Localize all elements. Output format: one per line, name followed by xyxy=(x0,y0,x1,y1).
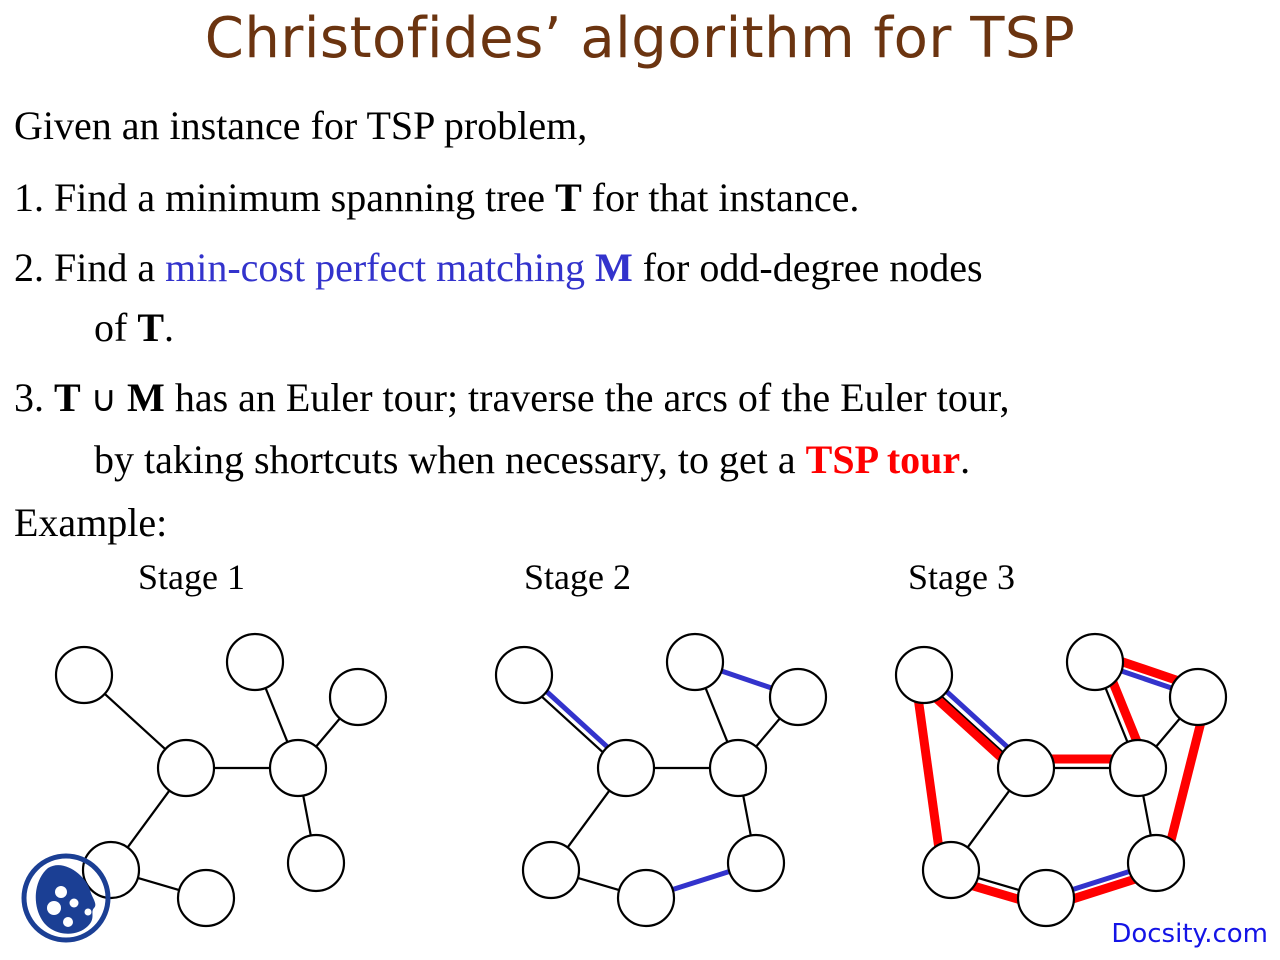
graph-node xyxy=(1170,669,1226,725)
graph-node xyxy=(270,740,326,796)
symbol-T: T xyxy=(555,175,582,220)
step-3: 3. T ∪ M has an Euler tour; traverse the… xyxy=(14,368,1272,490)
graph-node xyxy=(1018,870,1074,926)
step-2-continuation: of T. xyxy=(14,298,1272,358)
tour-edge xyxy=(1121,661,1179,681)
graph-node xyxy=(667,634,723,690)
step-3-cont-b: . xyxy=(960,437,970,482)
union-operator-icon: ∪ xyxy=(91,379,117,420)
graph-node xyxy=(923,842,979,898)
graph-node xyxy=(710,740,766,796)
graph-node xyxy=(728,835,784,891)
step-2-text-a: Find a xyxy=(54,245,165,290)
graph-2-canvas xyxy=(450,620,870,950)
tree-edge xyxy=(128,791,170,848)
graph-node xyxy=(1110,740,1166,796)
slide-root: Christofides’ algorithm for TSP Given an… xyxy=(0,0,1280,960)
tree-edge xyxy=(942,697,1003,752)
graph-node xyxy=(227,634,283,690)
graph-node xyxy=(56,647,112,703)
tree-edge xyxy=(743,796,751,836)
symbol-T2: T xyxy=(137,305,164,350)
tree-edge xyxy=(316,718,340,746)
stage-label-3: Stage 3 xyxy=(908,554,1015,600)
tree-edge xyxy=(266,688,288,742)
tree-edge xyxy=(542,697,603,752)
tree-edge xyxy=(756,718,780,746)
stage-3-graph xyxy=(850,620,1270,950)
page-title: Christofides’ algorithm for TSP xyxy=(0,2,1280,76)
graph-node xyxy=(496,647,552,703)
stage-label-2: Stage 2 xyxy=(524,554,631,600)
graph-node xyxy=(158,740,214,796)
step-3-cont-a: by taking shortcuts when necessary, to g… xyxy=(94,437,806,482)
tree-edge xyxy=(706,688,728,742)
intro-text: Given an instance for TSP problem, xyxy=(14,103,587,148)
matching-edge xyxy=(673,871,730,889)
tour-edge xyxy=(1171,722,1201,841)
graph-node xyxy=(1128,835,1184,891)
graph-node xyxy=(178,870,234,926)
graph-node xyxy=(1067,634,1123,690)
graph-node xyxy=(330,669,386,725)
example-label: Example: xyxy=(14,498,167,548)
stage-2-graph xyxy=(450,620,870,950)
tree-edge xyxy=(138,878,179,890)
graph-node xyxy=(896,647,952,703)
graph-node xyxy=(618,870,674,926)
symbol-T3: T xyxy=(54,375,81,420)
graph-node xyxy=(523,842,579,898)
graph-3-canvas xyxy=(850,620,1270,950)
stage-label-1: Stage 1 xyxy=(138,554,245,600)
graph-node xyxy=(770,669,826,725)
tree-edge xyxy=(1156,718,1180,746)
tour-edge xyxy=(936,698,1003,759)
step-3-number: 3. xyxy=(14,375,44,420)
tree-edge xyxy=(968,791,1010,848)
tree-edge xyxy=(303,796,311,836)
graph-node xyxy=(598,740,654,796)
step-3-text-a: has an Euler tour; traverse the arcs of … xyxy=(165,375,1010,420)
step-2-highlight: min-cost perfect matching xyxy=(165,245,595,290)
body-text-block: Given an instance for TSP problem, 1. Fi… xyxy=(14,96,1272,500)
step-3-continuation: by taking shortcuts when necessary, to g… xyxy=(14,430,1272,490)
step-2-text-b: for odd-degree nodes xyxy=(633,245,983,290)
step-1-number: 1. xyxy=(14,175,44,220)
graph-node xyxy=(998,740,1054,796)
step-1-text-a: Find a minimum spanning tree xyxy=(54,175,555,220)
tree-edge xyxy=(568,791,610,848)
tree-edge xyxy=(105,694,166,749)
step-2: 2. Find a min-cost perfect matching M fo… xyxy=(14,238,1272,358)
step-1: 1. Find a minimum spanning tree T for th… xyxy=(14,168,1272,228)
tour-edge xyxy=(918,700,938,847)
tsp-tour-emphasis: TSP tour xyxy=(806,437,960,482)
symbol-M: M xyxy=(595,245,633,290)
intro-line: Given an instance for TSP problem, xyxy=(14,96,1272,156)
docsity-cookie-logo xyxy=(16,846,116,946)
step-2-number: 2. xyxy=(14,245,44,290)
graph-node xyxy=(288,835,344,891)
step-2-cont-a: of xyxy=(94,305,137,350)
docsity-watermark: Docsity.com xyxy=(1111,918,1268,950)
symbol-M3: M xyxy=(127,375,165,420)
matching-edge xyxy=(547,692,608,747)
tree-edge xyxy=(578,878,619,890)
step-1-text-b: for that instance. xyxy=(582,175,860,220)
step-2-cont-b: . xyxy=(164,305,174,350)
matching-edge xyxy=(722,671,772,688)
tree-edge xyxy=(1143,796,1151,836)
